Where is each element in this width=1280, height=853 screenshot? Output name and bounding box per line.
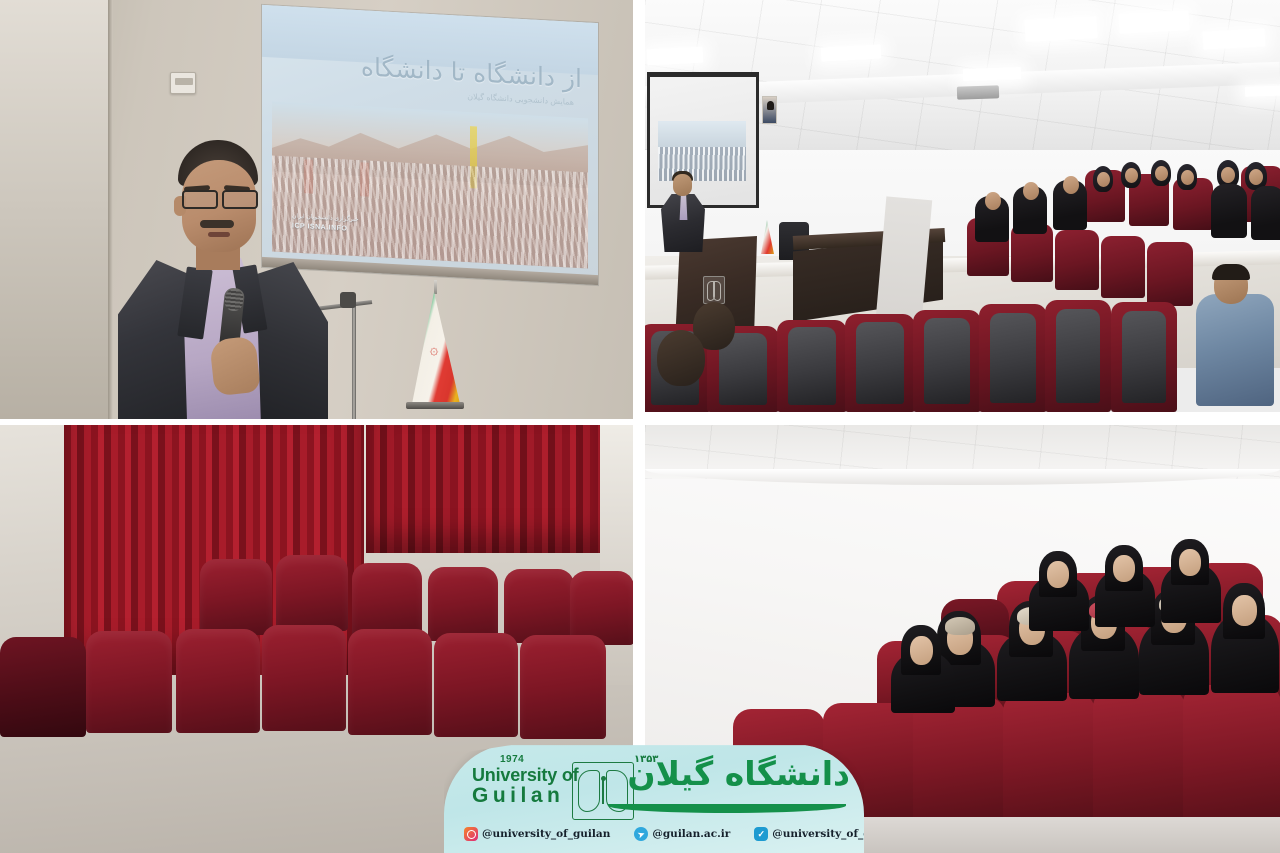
theater-seat: [352, 563, 422, 637]
attendee: [1251, 186, 1280, 240]
instagram-icon: [464, 827, 478, 841]
theater-seat: [200, 559, 272, 635]
theater-seat: [1045, 300, 1111, 412]
theater-seat: [0, 637, 86, 737]
theater-seat: [276, 555, 348, 631]
brand-name-fa: دانشگاه گیلان: [627, 754, 850, 793]
social-twitter[interactable]: @university_of_guilan: [754, 827, 864, 841]
theater-seat: [1003, 693, 1095, 825]
attendee-face: [1125, 168, 1138, 183]
theater-seat: [777, 320, 847, 412]
attendee-face: [1023, 182, 1039, 200]
speaker-moustache: [200, 220, 234, 228]
wall-portrait: [762, 96, 777, 124]
attendee-face: [1113, 555, 1135, 582]
theater-seat: [434, 633, 518, 737]
wall-thermostat: [170, 72, 196, 94]
ceiling-light: [647, 47, 704, 66]
attendee-face: [1221, 167, 1235, 183]
theater-seat: [520, 635, 606, 739]
presenter-figure: [661, 174, 707, 250]
theater-seat: [348, 629, 432, 735]
theater-seat: [1093, 689, 1185, 825]
mic-stand-pole: [352, 298, 356, 419]
telegram-handle: @guilan.ac.ir: [652, 828, 730, 840]
attendee-face: [985, 192, 1001, 210]
flag-base: [406, 402, 464, 409]
red-curtain-right: [366, 425, 606, 553]
social-instagram[interactable]: @university_of_guilan: [464, 827, 610, 841]
slide-subtitle: همایش دانشجویی دانشگاه گیلان: [467, 92, 574, 107]
back-seat-rows: [0, 545, 633, 745]
eyeglasses-icon: [178, 190, 262, 206]
flag-pole: [434, 280, 437, 294]
foreground-seat-row: [645, 300, 1280, 412]
attendee-foreground: [1196, 294, 1274, 406]
seat-block: [1055, 230, 1099, 290]
attendee: [1211, 184, 1247, 238]
seat-block: [1147, 242, 1193, 306]
attendee-woman: [1095, 545, 1155, 627]
attendee-face: [1155, 166, 1168, 181]
attendee-face: [1249, 169, 1263, 185]
iran-flag-stand: ۞: [404, 280, 466, 419]
attendee-face: [1097, 172, 1110, 187]
hall-slide-image: [658, 121, 746, 181]
seat-block: [1101, 236, 1145, 298]
stage-iran-flag: [758, 216, 776, 262]
attendee-woman: [1161, 539, 1221, 623]
theater-seat: [262, 625, 346, 731]
attendee-face: [1179, 549, 1201, 576]
theater-seat: [86, 631, 172, 733]
attendee-face: [1047, 561, 1069, 588]
twitter-handle: @university_of_guilan: [772, 828, 864, 840]
attendee-head: [657, 330, 705, 386]
mic-stand-clamp: [340, 292, 356, 308]
year-gregorian: 1974: [500, 754, 524, 765]
theater-seat: [428, 567, 498, 641]
theater-seat: [1111, 302, 1177, 412]
theater-seat: [913, 310, 981, 412]
theater-seat: [1183, 685, 1280, 825]
theater-seat: [504, 569, 574, 643]
ceiling-light: [1245, 85, 1280, 97]
university-brand-badge: 1974 ۱۳۵۳ University of Guilan دانشگاه گ…: [444, 744, 864, 853]
instagram-handle: @university_of_guilan: [482, 828, 610, 840]
ceiling-light: [963, 67, 1021, 81]
attendee-woman: [891, 625, 955, 713]
attendee-face: [1181, 170, 1194, 185]
attendee-face: [1232, 595, 1257, 626]
social-handles: @university_of_guilan @guilan.ac.ir @uni…: [444, 823, 864, 845]
ceiling-light: [1119, 10, 1190, 34]
theater-seat: [913, 697, 1005, 825]
ceiling-light: [1203, 28, 1266, 49]
theater-seat: [845, 314, 915, 412]
flag-emblem-icon: ۞: [426, 342, 442, 358]
ceiling-vent: [957, 85, 999, 99]
room-wall-left: [0, 0, 112, 419]
theater-seat: [570, 571, 633, 645]
logo-lobe-left: [578, 770, 600, 812]
university-logo-icon: [572, 762, 634, 820]
twitter-icon: [754, 827, 768, 841]
photo-collage: خبرگزاری دانشجویان ایران ICP ISNA.INFO ا…: [0, 0, 1280, 853]
social-telegram[interactable]: @guilan.ac.ir: [634, 827, 730, 841]
speaker-hand: [209, 336, 261, 397]
attendee-face: [1063, 176, 1079, 194]
attendee-woman: [1029, 551, 1089, 631]
attendee-face: [910, 636, 933, 665]
telegram-icon: [634, 827, 648, 841]
brand-name-fa-underline: [608, 804, 846, 813]
theater-seat: [979, 304, 1047, 412]
brand-row: 1974 ۱۳۵۳ University of Guilan دانشگاه گ…: [444, 754, 864, 812]
photo-panel-hall-wide: [645, 0, 1280, 412]
photo-panel-speaker: خبرگزاری دانشجویان ایران ICP ISNA.INFO ا…: [0, 0, 633, 419]
presenter-head: [673, 174, 692, 196]
logo-stem: [602, 780, 604, 804]
speaker-mouth: [208, 232, 230, 237]
ceiling-light: [1024, 16, 1097, 42]
attendee-woman: [1211, 583, 1279, 693]
speaker-figure: [104, 140, 330, 419]
theater-seat: [176, 629, 260, 733]
stage-flag-cloth: [761, 220, 774, 254]
